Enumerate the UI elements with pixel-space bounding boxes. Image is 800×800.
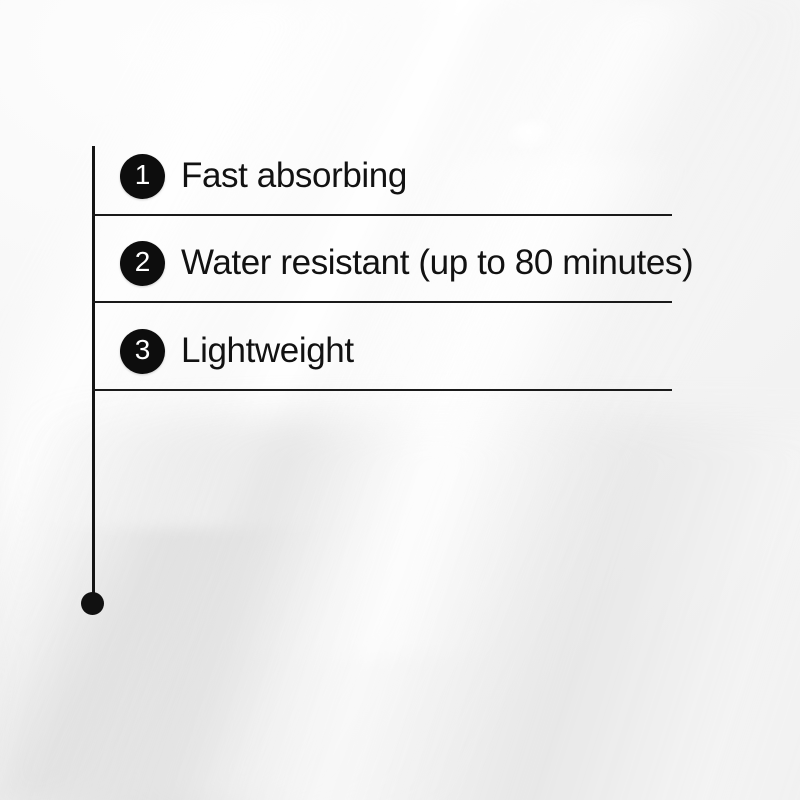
divider-line-1 xyxy=(92,214,672,216)
axis-end-dot-icon xyxy=(81,592,104,615)
product-benefits-graphic: 1 Fast absorbing 2 Water resistant (up t… xyxy=(0,0,800,800)
number-badge-3: 3 xyxy=(120,329,165,374)
benefit-row-2: 2 Water resistant (up to 80 minutes) xyxy=(120,240,693,286)
benefit-label-2: Water resistant (up to 80 minutes) xyxy=(181,245,693,280)
number-badge-1-value: 1 xyxy=(135,161,151,189)
number-badge-1: 1 xyxy=(120,154,165,199)
number-badge-2: 2 xyxy=(120,241,165,286)
divider-line-2 xyxy=(92,301,672,303)
number-badge-3-value: 3 xyxy=(135,336,151,364)
benefits-list: 1 Fast absorbing 2 Water resistant (up t… xyxy=(0,0,800,800)
benefit-row-1: 1 Fast absorbing xyxy=(120,153,407,199)
divider-line-3 xyxy=(92,389,672,391)
number-badge-2-value: 2 xyxy=(135,248,151,276)
benefit-row-3: 3 Lightweight xyxy=(120,328,354,374)
benefit-label-1: Fast absorbing xyxy=(181,158,407,193)
benefit-label-3: Lightweight xyxy=(181,333,354,368)
